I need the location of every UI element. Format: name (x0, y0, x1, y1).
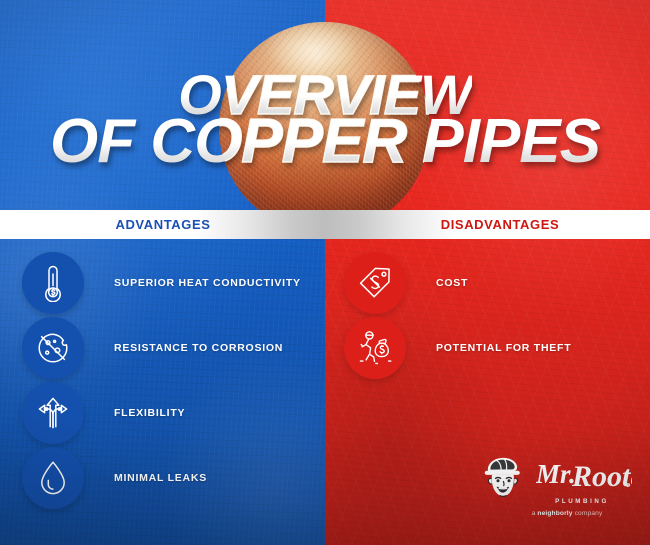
three-way-arrows-icon (22, 382, 84, 444)
list-item-label: SUPERIOR HEAT CONDUCTIVITY (114, 252, 301, 314)
list-item-label: MINIMAL LEAKS (114, 447, 207, 509)
list-item-label: COST (436, 252, 468, 314)
brand-logo: Mr. Rooter R PLUMBING a neighborly compa… (478, 452, 628, 530)
copper-sphere-graphic (219, 22, 430, 233)
corrosion-blocked-icon (22, 317, 84, 379)
list-item: COST (344, 252, 644, 317)
disadvantages-heading: DISADVANTAGES (400, 210, 600, 239)
svg-text:R: R (626, 485, 628, 488)
thief-money-bag-icon (344, 317, 406, 379)
plumber-mascot-icon (478, 454, 532, 509)
tagline-brand: neighborly (537, 510, 572, 517)
tagline-suffix: company (573, 510, 603, 517)
brand-tagline: a neighborly company (506, 510, 628, 517)
list-item: FLEXIBILITY (22, 382, 322, 447)
thermometer-icon (22, 252, 84, 314)
water-droplet-icon (22, 447, 84, 509)
infographic-canvas: OVERVIEW OF COPPER PIPES OVERVIEW OF COP… (0, 0, 650, 545)
brand-service-line: PLUMBING (536, 498, 628, 505)
list-item: MINIMAL LEAKS (22, 447, 322, 512)
list-item: RESISTANCE TO CORROSION (22, 317, 322, 382)
brand-name-rooter: Rooter (571, 460, 632, 493)
list-item-label: FLEXIBILITY (114, 382, 185, 444)
list-item-label: RESISTANCE TO CORROSION (114, 317, 283, 379)
brand-wordmark: Mr. Rooter R (536, 455, 632, 504)
list-item: SUPERIOR HEAT CONDUCTIVITY (22, 252, 322, 317)
disadvantages-list: COST POTENTIAL FOR THEFT (344, 252, 644, 382)
list-item: POTENTIAL FOR THEFT (344, 317, 644, 382)
list-item-label: POTENTIAL FOR THEFT (436, 317, 571, 379)
price-tag-dollar-icon (344, 252, 406, 314)
advantages-list: SUPERIOR HEAT CONDUCTIVITY RESISTANCE TO… (22, 252, 322, 512)
brand-name-mr: Mr. (536, 459, 576, 489)
advantages-heading: ADVANTAGES (63, 210, 263, 239)
section-divider-band: ADVANTAGES DISADVANTAGES (0, 210, 650, 239)
